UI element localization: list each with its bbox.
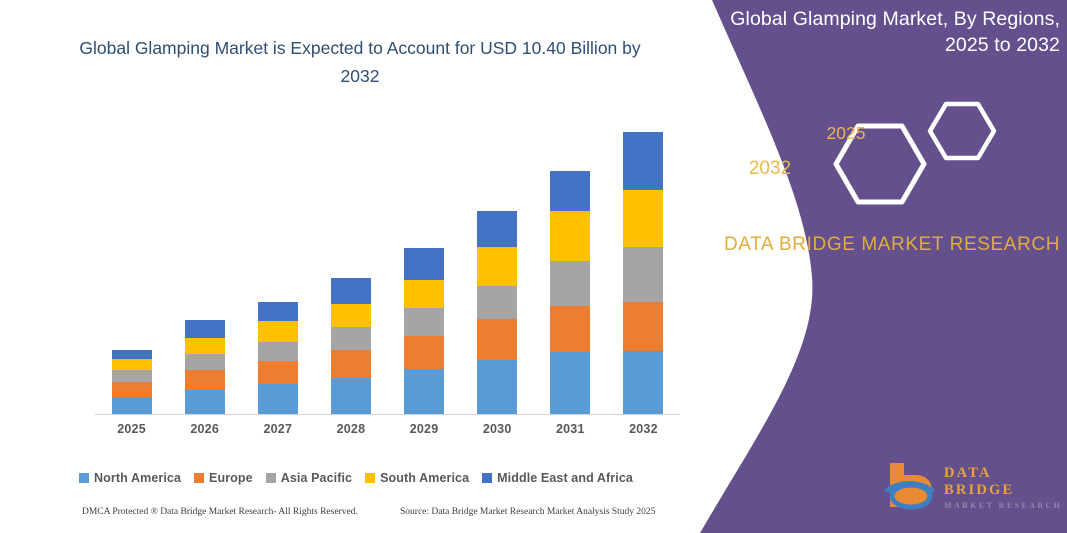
x-axis-label-2028: 2028 <box>319 422 383 436</box>
bar-segment-europe[interactable] <box>331 350 371 378</box>
bar-segment-europe[interactable] <box>185 370 225 389</box>
legend-label: Asia Pacific <box>281 471 352 485</box>
bar-segment-south-america[interactable] <box>112 359 152 370</box>
stacked-bar[interactable] <box>331 278 371 415</box>
bar-segment-asia-pacific[interactable] <box>112 370 152 382</box>
bar-segment-middle-east-and-africa[interactable] <box>550 171 590 211</box>
footer-copyright: DMCA Protected ® Data Bridge Market Rese… <box>82 505 358 519</box>
bar-segment-europe[interactable] <box>112 382 152 396</box>
legend-item-north-america[interactable]: North America <box>79 471 181 485</box>
chart-legend: North AmericaEuropeAsia PacificSouth Ame… <box>0 471 712 485</box>
stacked-bar[interactable] <box>185 320 225 415</box>
bar-segment-north-america[interactable] <box>477 360 517 415</box>
x-axis-label-2029: 2029 <box>392 422 456 436</box>
logo-text-line1: DATA BRIDGE <box>944 465 1064 499</box>
logo-text: DATA BRIDGE MARKET RESEARCH <box>944 465 1064 512</box>
x-axis-label-2031: 2031 <box>538 422 602 436</box>
stacked-bar[interactable] <box>550 171 590 415</box>
hexagon-2025-icon <box>930 104 994 158</box>
bar-segment-north-america[interactable] <box>112 397 152 415</box>
bar-segment-south-america[interactable] <box>477 247 517 286</box>
stacked-bar[interactable] <box>258 302 298 415</box>
bar-segment-asia-pacific[interactable] <box>185 354 225 370</box>
side-panel-title: Global Glamping Market, By Regions, 2025… <box>730 6 1060 58</box>
hexagon-2025-label: 2025 <box>806 123 886 144</box>
bar-segment-asia-pacific[interactable] <box>404 308 444 335</box>
legend-swatch-icon <box>266 473 276 483</box>
bar-segment-middle-east-and-africa[interactable] <box>404 248 444 280</box>
legend-label: North America <box>94 471 181 485</box>
bar-segment-south-america[interactable] <box>404 280 444 308</box>
x-axis-line <box>95 414 680 415</box>
brand-name: DATA BRIDGE MARKET RESEARCH <box>722 230 1062 259</box>
bar-segment-middle-east-and-africa[interactable] <box>477 211 517 248</box>
bar-segment-north-america[interactable] <box>623 351 663 415</box>
bar-segment-south-america[interactable] <box>185 338 225 354</box>
legend-swatch-icon <box>194 473 204 483</box>
x-axis-label-2030: 2030 <box>465 422 529 436</box>
stacked-bar[interactable] <box>477 211 517 415</box>
bar-segment-asia-pacific[interactable] <box>258 342 298 361</box>
legend-swatch-icon <box>365 473 375 483</box>
bar-segment-south-america[interactable] <box>258 321 298 341</box>
bar-segment-asia-pacific[interactable] <box>477 286 517 320</box>
bar-segment-europe[interactable] <box>477 319 517 360</box>
data-bridge-logo: DATA BRIDGE MARKET RESEARCH <box>872 455 1062 517</box>
legend-item-middle-east-and-africa[interactable]: Middle East and Africa <box>482 471 633 485</box>
footer: DMCA Protected ® Data Bridge Market Rese… <box>0 505 712 527</box>
bar-segment-europe[interactable] <box>550 306 590 352</box>
legend-label: Middle East and Africa <box>497 471 633 485</box>
bar-segment-europe[interactable] <box>258 361 298 384</box>
bar-segment-north-america[interactable] <box>185 390 225 415</box>
bar-segment-europe[interactable] <box>404 336 444 370</box>
hexagon-group <box>820 100 1000 210</box>
bar-segment-south-america[interactable] <box>550 211 590 262</box>
chart-area: Global Glamping Market is Expected to Ac… <box>0 0 712 533</box>
logo-text-line2: MARKET RESEARCH <box>944 499 1064 512</box>
bar-segment-asia-pacific[interactable] <box>550 261 590 306</box>
chart-title: Global Glamping Market is Expected to Ac… <box>60 34 660 90</box>
bar-segment-south-america[interactable] <box>623 190 663 247</box>
x-axis-label-2025: 2025 <box>100 422 164 436</box>
legend-swatch-icon <box>79 473 89 483</box>
bar-segment-europe[interactable] <box>623 302 663 351</box>
bar-segment-middle-east-and-africa[interactable] <box>623 132 663 190</box>
legend-label: South America <box>380 471 469 485</box>
side-panel: Global Glamping Market, By Regions, 2025… <box>712 0 1067 533</box>
x-axis-label-2032: 2032 <box>611 422 675 436</box>
legend-item-europe[interactable]: Europe <box>194 471 253 485</box>
bar-segment-middle-east-and-africa[interactable] <box>112 350 152 359</box>
bar-segment-north-america[interactable] <box>550 352 590 415</box>
hexagon-2032-label: 2032 <box>728 158 812 180</box>
bar-segment-south-america[interactable] <box>331 304 371 326</box>
bar-segment-north-america[interactable] <box>258 384 298 415</box>
x-axis-labels: 20252026202720282029203020312032 <box>95 422 680 444</box>
footer-source: Source: Data Bridge Market Research Mark… <box>400 505 655 519</box>
stacked-bar[interactable] <box>112 350 152 415</box>
bar-segment-middle-east-and-africa[interactable] <box>258 302 298 321</box>
x-axis-label-2026: 2026 <box>173 422 237 436</box>
legend-swatch-icon <box>482 473 492 483</box>
bar-segment-asia-pacific[interactable] <box>331 327 371 350</box>
bar-segment-north-america[interactable] <box>331 378 371 415</box>
x-axis-label-2027: 2027 <box>246 422 310 436</box>
logo-mark-icon <box>882 459 938 511</box>
bar-segment-middle-east-and-africa[interactable] <box>331 278 371 304</box>
legend-item-south-america[interactable]: South America <box>365 471 469 485</box>
bar-segment-asia-pacific[interactable] <box>623 247 663 302</box>
bar-segment-north-america[interactable] <box>404 369 444 415</box>
stacked-bar[interactable] <box>404 248 444 415</box>
legend-item-asia-pacific[interactable]: Asia Pacific <box>266 471 352 485</box>
stacked-bar[interactable] <box>623 132 663 415</box>
bar-segment-middle-east-and-africa[interactable] <box>185 320 225 337</box>
bar-chart-plot <box>95 120 680 415</box>
legend-label: Europe <box>209 471 253 485</box>
hexagon-outlines <box>820 100 1000 210</box>
infographic-page: Global Glamping Market, By Regions, 2025… <box>0 0 1067 533</box>
